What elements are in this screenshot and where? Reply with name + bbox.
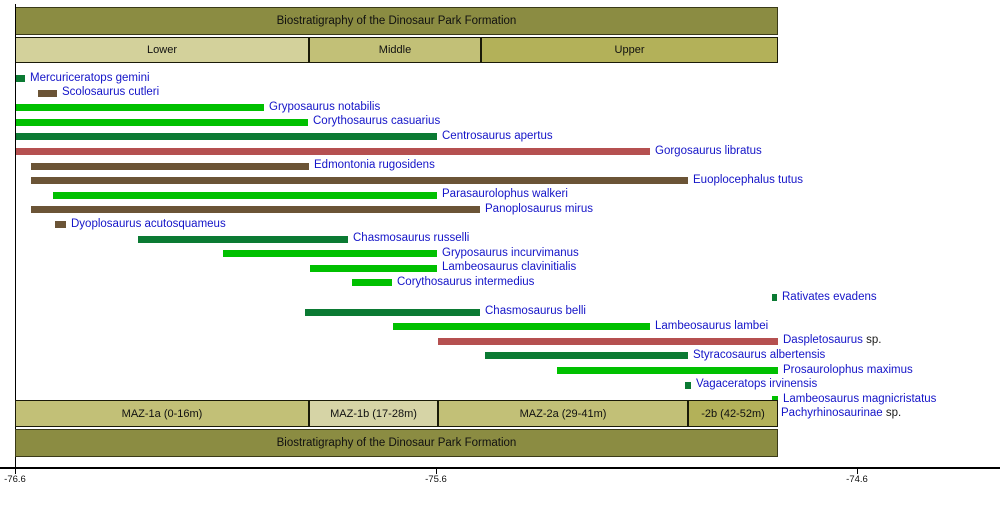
- chart-title-text-bottom: Biostratigraphy of the Dinosaur Park For…: [277, 437, 517, 449]
- taxon-label: Scolosaurus cutleri: [62, 87, 159, 98]
- taxon-label: Parasaurolophus walkeri: [442, 189, 568, 200]
- taxon-label: Daspletosaurus sp.: [783, 335, 881, 346]
- maz-band-label: MAZ-2a (29-41m): [520, 408, 607, 420]
- taxon-range-bar[interactable]: [485, 352, 688, 359]
- maz-band: MAZ-2a (29-41m): [438, 400, 688, 427]
- taxon-range-bar[interactable]: [31, 177, 688, 184]
- taxon-range-bar[interactable]: [31, 163, 309, 170]
- x-axis-tick: [857, 467, 858, 474]
- taxon-label: Corythosaurus casuarius: [313, 116, 440, 127]
- taxon-range-bar[interactable]: [31, 206, 480, 213]
- x-axis-tick-label: -76.6: [4, 474, 26, 485]
- taxon-label: Corythosaurus intermedius: [397, 277, 534, 288]
- maz-band: MAZ-1b (17-28m): [309, 400, 438, 427]
- taxon-label: Chasmosaurus belli: [485, 306, 586, 317]
- epoch-band-lower: Lower: [15, 37, 309, 63]
- taxon-label: Dyoplosaurus acutosquameus: [71, 219, 226, 230]
- epoch-band-label: Upper: [615, 44, 645, 56]
- taxon-label: Gryposaurus incurvimanus: [442, 248, 579, 259]
- taxon-label: Lambeosaurus magnicristatus: [783, 394, 936, 405]
- taxon-label: Euoplocephalus tutus: [693, 175, 803, 186]
- taxon-range-bar[interactable]: [772, 294, 777, 301]
- taxon-range-bar[interactable]: [305, 309, 480, 316]
- taxon-label: Lambeosaurus clavinitialis: [442, 262, 576, 273]
- x-axis-tick: [436, 467, 437, 474]
- taxon-range-bar[interactable]: [53, 192, 437, 199]
- taxon-label: Lambeosaurus lambei: [655, 321, 768, 332]
- taxon-label: Rativates evadens: [782, 292, 877, 303]
- taxon-range-bar[interactable]: [15, 119, 308, 126]
- chart-title-banner-top: Biostratigraphy of the Dinosaur Park For…: [15, 7, 778, 35]
- taxon-label: Gorgosaurus libratus: [655, 146, 762, 157]
- maz-band-label: MAZ-1b (17-28m): [330, 408, 417, 420]
- chart-title-text-top: Biostratigraphy of the Dinosaur Park For…: [277, 15, 517, 27]
- taxon-range-bar[interactable]: [393, 323, 650, 330]
- taxon-range-bar[interactable]: [223, 250, 437, 257]
- taxon-label: Mercuriceratops gemini: [30, 73, 150, 84]
- maz-band: -2b (42-52m): [688, 400, 778, 427]
- taxon-range-bar[interactable]: [557, 367, 778, 374]
- taxon-range-bar[interactable]: [138, 236, 348, 243]
- maz-band-label: -2b (42-52m): [701, 408, 765, 420]
- taxon-range-bar[interactable]: [310, 265, 437, 272]
- y-axis-line: [15, 4, 16, 468]
- taxon-label: Gryposaurus notabilis: [269, 102, 380, 113]
- taxon-label: Vagaceratops irvinensis: [696, 379, 817, 390]
- taxon-label: Prosaurolophus maximus: [783, 365, 913, 376]
- taxon-range-bar[interactable]: [15, 75, 25, 82]
- x-axis-tick-label: -75.6: [425, 474, 447, 485]
- taxon-label: Edmontonia rugosidens: [314, 160, 435, 171]
- epoch-band-label: Middle: [379, 44, 411, 56]
- x-axis-tick: [15, 467, 16, 474]
- taxon-label: Styracosaurus albertensis: [693, 350, 825, 361]
- epoch-band-middle: Middle: [309, 37, 481, 63]
- maz-band-label: MAZ-1a (0-16m): [122, 408, 203, 420]
- taxon-range-bar[interactable]: [38, 90, 57, 97]
- taxon-range-bar[interactable]: [15, 104, 264, 111]
- taxon-range-bar[interactable]: [685, 382, 691, 389]
- taxon-label: Panoplosaurus mirus: [485, 204, 593, 215]
- maz-band: MAZ-1a (0-16m): [15, 400, 309, 427]
- chart-title-banner-bottom: Biostratigraphy of the Dinosaur Park For…: [15, 429, 778, 457]
- taxon-range-bar[interactable]: [352, 279, 392, 286]
- x-axis-tick-label: -74.6: [846, 474, 868, 485]
- taxon-range-bar[interactable]: [438, 338, 778, 345]
- x-axis-line: [0, 467, 1000, 469]
- plot-area: Mercuriceratops geminiScolosaurus cutler…: [15, 67, 978, 395]
- epoch-band-upper: Upper: [481, 37, 778, 63]
- taxon-range-bar[interactable]: [55, 221, 66, 228]
- taxon-range-bar[interactable]: [15, 133, 437, 140]
- taxon-label: Pachyrhinosaurinae sp.: [781, 408, 901, 419]
- taxon-range-bar[interactable]: [15, 148, 650, 155]
- taxon-label: Centrosaurus apertus: [442, 131, 553, 142]
- biostratigraphy-chart: Biostratigraphy of the Dinosaur Park For…: [0, 0, 1000, 508]
- taxon-label: Chasmosaurus russelli: [353, 233, 469, 244]
- epoch-band-label: Lower: [147, 44, 177, 56]
